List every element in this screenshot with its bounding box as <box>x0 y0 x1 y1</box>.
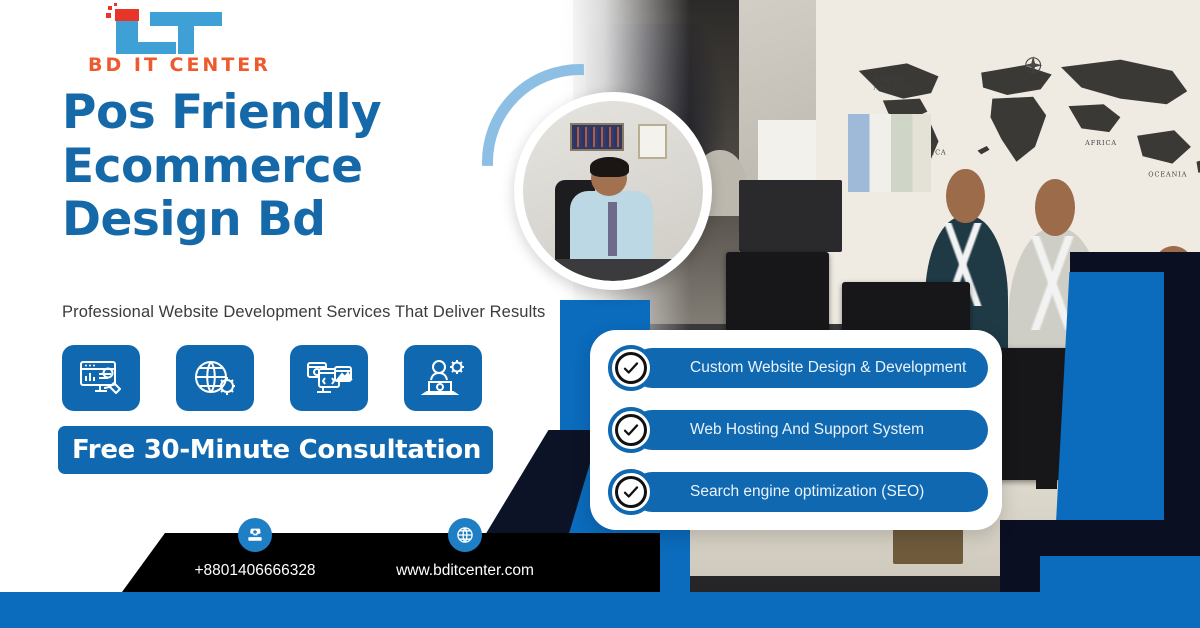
cta-label: Free 30-Minute Consultation <box>72 435 481 465</box>
contact-phone[interactable]: +8801406666328 <box>170 518 340 580</box>
contact-website[interactable]: www.bditcenter.com <box>360 518 570 580</box>
phone-icon <box>238 518 272 552</box>
logo-mark-lt <box>106 6 256 54</box>
svg-text:AMERICA: AMERICA <box>872 83 913 91</box>
marketing-banner: NORTHAMERICA SOUTHAMERICA AFRICA OCEANIA <box>0 0 1200 628</box>
company-logo: BD IT CENTER <box>88 6 278 78</box>
check-circle-icon <box>608 345 654 391</box>
feature-item[interactable]: Custom Website Design & Development <box>608 344 988 392</box>
phone-number: +8801406666328 <box>170 562 340 580</box>
blue-accent-shape <box>1054 272 1164 560</box>
website-analytics-maintenance-icon[interactable] <box>62 345 140 411</box>
page-title: Pos Friendly Ecommerce Design Bd <box>62 86 532 247</box>
svg-text:OCEANIA: OCEANIA <box>1148 171 1187 179</box>
feature-label: Web Hosting And Support System <box>690 421 924 439</box>
global-settings-icon[interactable] <box>176 345 254 411</box>
service-icon-row <box>62 345 482 411</box>
web-design-development-icon[interactable] <box>290 345 368 411</box>
feature-label: Custom Website Design & Development <box>690 359 966 377</box>
feature-label: Search engine optimization (SEO) <box>690 483 924 501</box>
feature-item[interactable]: Web Hosting And Support System <box>608 406 988 454</box>
check-circle-icon <box>608 469 654 515</box>
svg-text:AFRICA: AFRICA <box>1084 139 1117 147</box>
cta-button[interactable]: Free 30-Minute Consultation <box>58 426 493 474</box>
check-circle-icon <box>608 407 654 453</box>
features-card: Custom Website Design & Development Web … <box>590 330 1002 530</box>
subtitle: Professional Website Development Service… <box>62 303 582 322</box>
logo-wordmark: BD IT CENTER <box>88 54 278 76</box>
feature-item[interactable]: Search engine optimization (SEO) <box>608 468 988 516</box>
avatar <box>514 92 712 290</box>
developer-support-icon[interactable] <box>404 345 482 411</box>
bottom-blue-bar <box>0 592 1200 628</box>
globe-icon <box>448 518 482 552</box>
contact-bar: +8801406666328 www.bditcenter.com <box>170 518 570 593</box>
website-url: www.bditcenter.com <box>360 562 570 580</box>
